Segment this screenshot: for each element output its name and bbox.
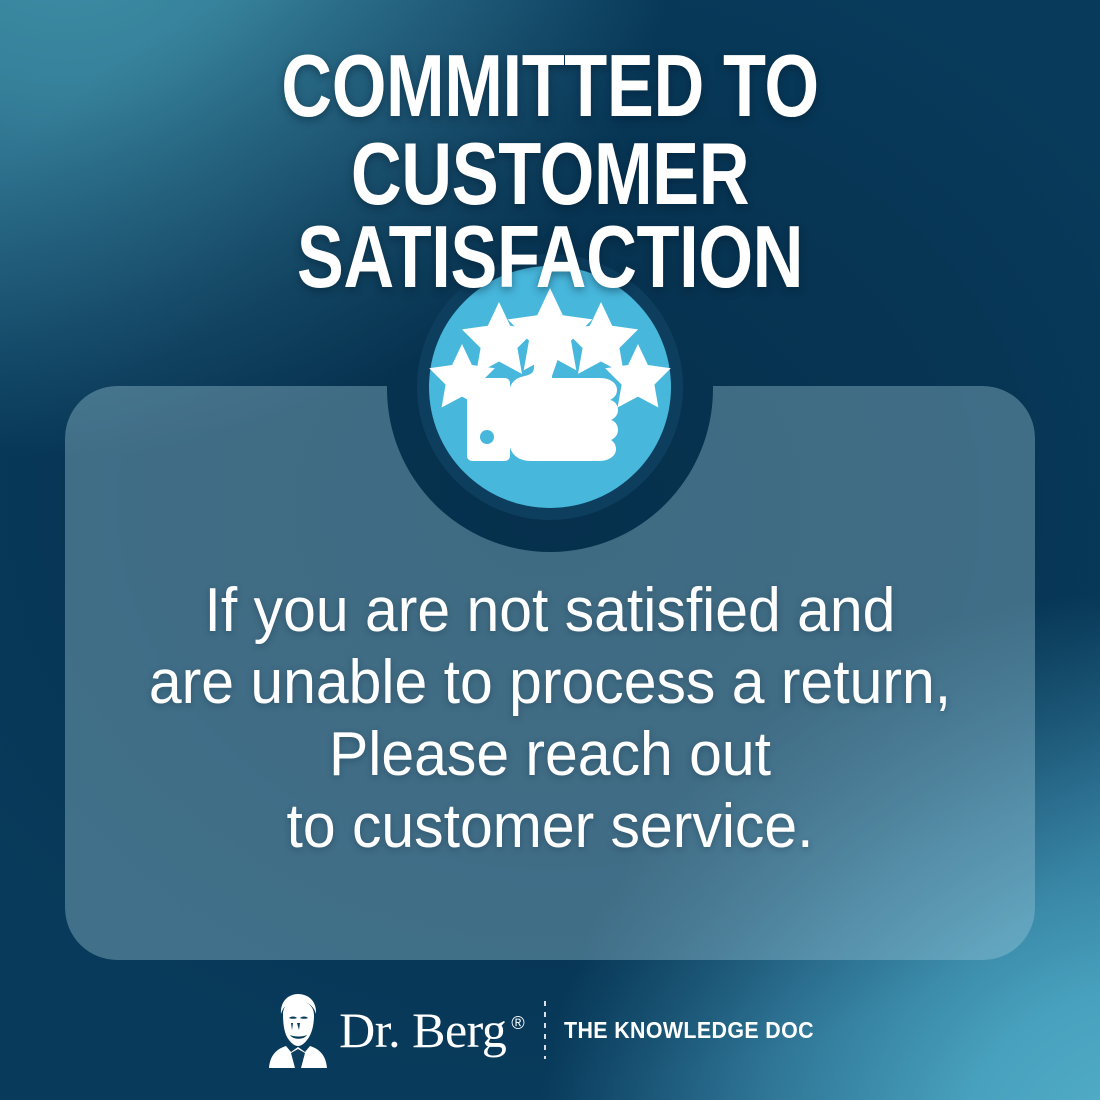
message-line-2: are unable to process a return,	[89, 647, 1011, 719]
brand-tagline: THE KNOWLEDGE DOC	[564, 1017, 814, 1044]
cuff-shape	[467, 378, 510, 461]
message-line-4: to customer service.	[89, 791, 1011, 863]
message-text: If you are not satisfied and are unable …	[65, 575, 1035, 863]
message-line-3: Please reach out	[89, 719, 1011, 791]
footer-divider	[544, 1001, 546, 1059]
headline-line-2: CUSTOMER SATISFACTION	[110, 132, 990, 299]
message-line-1: If you are not satisfied and	[89, 575, 1011, 647]
dr-berg-portrait-icon	[267, 992, 329, 1068]
brand-name-text: Dr. Berg	[339, 1002, 506, 1058]
footer-branding: Dr. Berg® THE KNOWLEDGE DOC	[0, 985, 1100, 1075]
cuff-button-icon	[480, 430, 494, 444]
registered-trademark-icon: ®	[511, 1013, 524, 1033]
headline-line-1: COMMITTED TO	[110, 44, 990, 128]
brand-name: Dr. Berg®	[339, 1005, 524, 1055]
headline: COMMITTED TO CUSTOMER SATISFACTION	[0, 44, 1100, 299]
promotional-poster: COMMITTED TO CUSTOMER SATISFACTION	[0, 0, 1100, 1100]
